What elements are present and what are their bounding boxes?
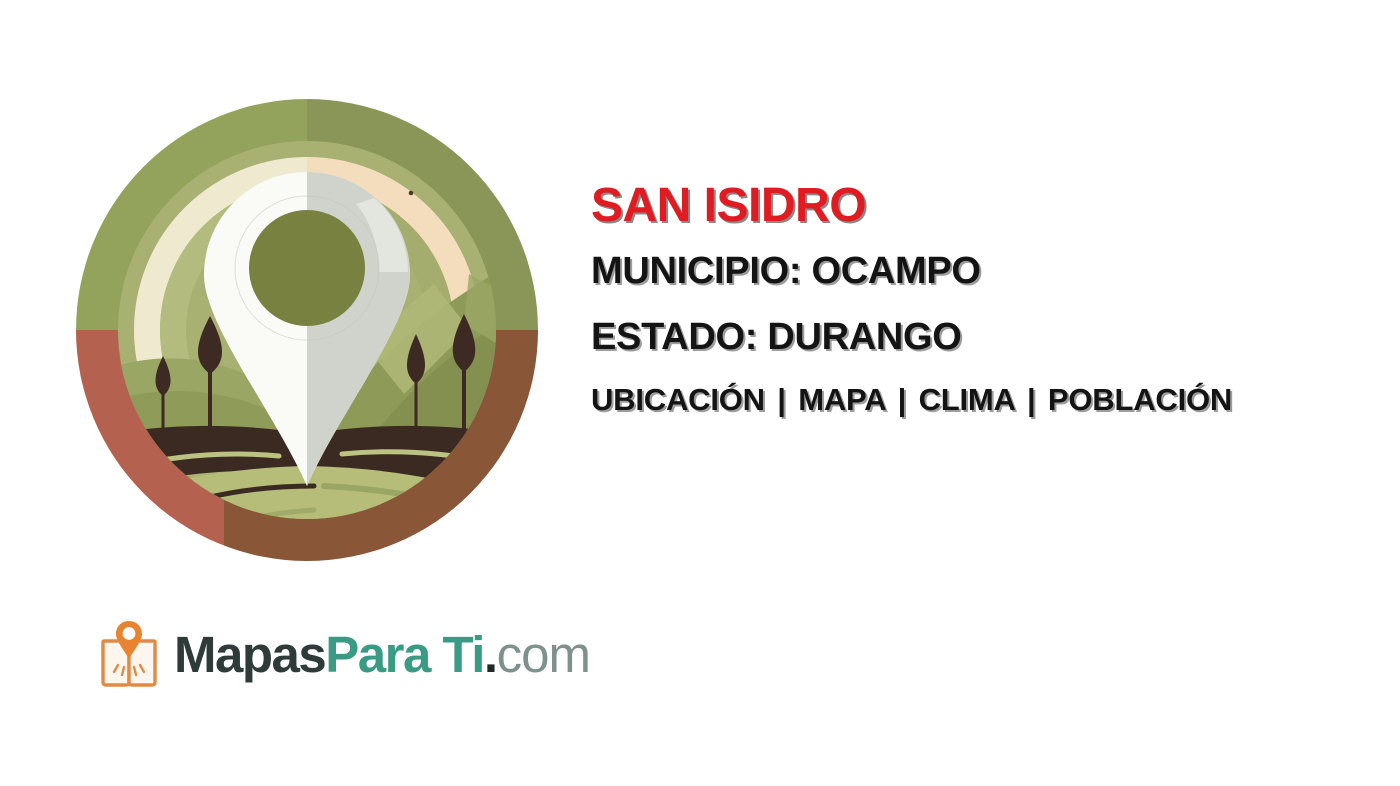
brand-word-dot: . (484, 626, 497, 683)
nav-item-poblacion[interactable]: POBLACIÓN (1048, 382, 1232, 417)
estado-line: ESTADO: DURANGO (591, 318, 1381, 356)
page-root: SAN ISIDRO MUNICIPIO: OCAMPO ESTADO: DUR… (0, 0, 1400, 786)
nav-item-ubicacion[interactable]: UBICACIÓN (591, 382, 765, 417)
nav-separator: | (773, 382, 789, 417)
brand-wordmark: MapasPara Ti.com (174, 629, 590, 680)
section-nav: UBICACIÓN | MAPA | CLIMA | POBLACIÓN (591, 384, 1381, 415)
brand-logo[interactable]: MapasPara Ti.com (98, 618, 590, 690)
place-info-block: SAN ISIDRO MUNICIPIO: OCAMPO ESTADO: DUR… (591, 182, 1381, 415)
open-book-pin-icon (98, 618, 160, 690)
brand-word-com: com (497, 626, 590, 683)
brand-word-parati: Para Ti (325, 626, 484, 683)
landscape-location-emblem (74, 94, 540, 566)
speck-artifact (409, 191, 414, 196)
brand-word-mapas: Mapas (174, 626, 325, 683)
nav-separator: | (894, 382, 910, 417)
nav-item-clima[interactable]: CLIMA (919, 382, 1015, 417)
nav-separator: | (1023, 382, 1039, 417)
municipio-line: MUNICIPIO: OCAMPO (591, 252, 1381, 290)
nav-item-mapa[interactable]: MAPA (798, 382, 885, 417)
page-title: SAN ISIDRO (591, 182, 1381, 230)
